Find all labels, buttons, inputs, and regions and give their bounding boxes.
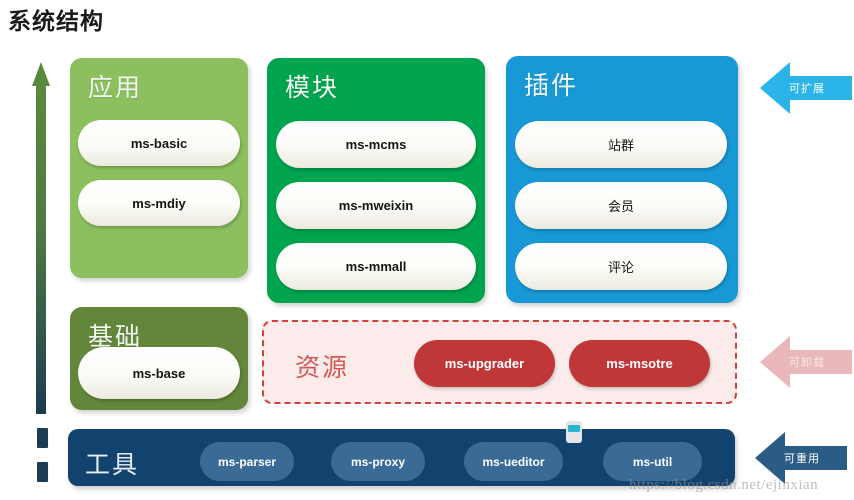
- annotation-label-reusable: 可重用: [784, 450, 820, 466]
- module-pill-ms-mmall[interactable]: ms-mmall: [276, 243, 476, 290]
- page-title: 系统结构: [8, 2, 104, 36]
- tool-pill-ms-proxy[interactable]: ms-proxy: [331, 442, 425, 481]
- layer-card-plugin[interactable]: 插件 站群 会员 评论: [506, 56, 738, 303]
- layer-title-tools: 工具: [85, 445, 139, 481]
- layer-title-app: 应用: [88, 68, 142, 104]
- tool-pill-ms-util[interactable]: ms-util: [603, 442, 702, 481]
- annotation-label-extensible: 可扩展: [789, 80, 825, 96]
- vertical-gradient-arrow-icon: [32, 62, 50, 414]
- toolbar-marker-icon: [566, 421, 582, 443]
- module-pill-ms-mcms[interactable]: ms-mcms: [276, 121, 476, 168]
- layer-card-base[interactable]: 基础 ms-base: [70, 307, 248, 410]
- arrow-dash-segment: [37, 428, 48, 448]
- arrow-dash-segment: [37, 462, 48, 482]
- layer-title-module: 模块: [285, 68, 339, 104]
- layer-title-resource: 资源: [295, 348, 349, 384]
- system-architecture-diagram: 系统结构 应用 ms-basic ms-mdiy 模块 ms-mcms ms-m…: [0, 0, 854, 500]
- module-pill-ms-mweixin[interactable]: ms-mweixin: [276, 182, 476, 229]
- layer-card-module[interactable]: 模块 ms-mcms ms-mweixin ms-mmall: [267, 58, 485, 303]
- resource-pill-ms-msotre[interactable]: ms-msotre: [569, 340, 710, 387]
- plugin-pill-zhanqun[interactable]: 站群: [515, 121, 727, 168]
- plugin-pill-huiyuan[interactable]: 会员: [515, 182, 727, 229]
- resource-pill-ms-upgrader[interactable]: ms-upgrader: [414, 340, 555, 387]
- layer-title-plugin: 插件: [524, 66, 578, 102]
- module-pill-ms-basic[interactable]: ms-basic: [78, 120, 240, 166]
- module-pill-ms-base[interactable]: ms-base: [78, 347, 240, 399]
- annotation-label-uninstallable: 可卸载: [789, 354, 825, 370]
- module-pill-ms-mdiy[interactable]: ms-mdiy: [78, 180, 240, 226]
- tool-pill-ms-parser[interactable]: ms-parser: [200, 442, 294, 481]
- tool-pill-ms-ueditor[interactable]: ms-ueditor: [464, 442, 563, 481]
- layer-card-app[interactable]: 应用 ms-basic ms-mdiy: [70, 58, 248, 278]
- watermark-text: https://blog.csdn.net/ejinxian: [629, 477, 818, 494]
- plugin-pill-pinglun[interactable]: 评论: [515, 243, 727, 290]
